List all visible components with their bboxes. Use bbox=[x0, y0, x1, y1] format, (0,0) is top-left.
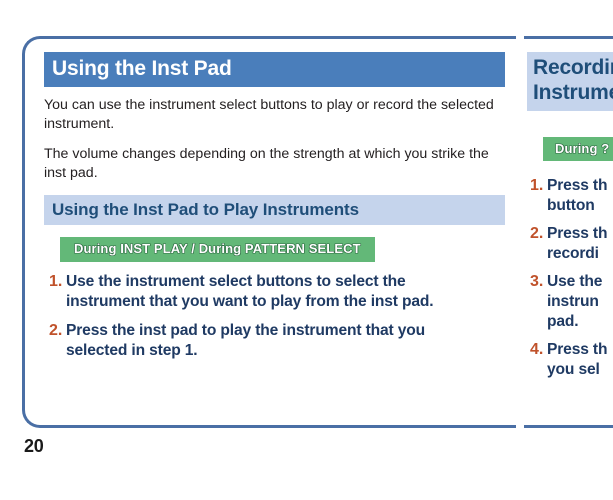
manual-page-spread: Using the Inst Pad You can use the instr… bbox=[0, 0, 613, 500]
right-page-content: Recording Instrumen During ? 1. Press th… bbox=[527, 52, 613, 388]
section-heading-line-2: Instrumen bbox=[533, 81, 613, 104]
step-text-line-1: Press th bbox=[547, 176, 607, 196]
left-page-content: Using the Inst Pad You can use the instr… bbox=[44, 52, 509, 370]
list-item: 3. Use the instrun pad. bbox=[527, 272, 613, 332]
list-item: 2. Press the inst pad to play the instru… bbox=[44, 321, 509, 361]
step-number: 1. bbox=[44, 272, 66, 292]
section-heading-recording-instrument: Recording Instrumen bbox=[527, 52, 613, 111]
step-text: Use the instrun pad. bbox=[547, 272, 602, 332]
body-paragraph-2: The volume changes depending on the stre… bbox=[44, 145, 496, 184]
page-number: 20 bbox=[24, 436, 44, 457]
step-text-line-1: Press th bbox=[547, 340, 607, 360]
step-text-line-2: button bbox=[547, 196, 607, 216]
list-item: 4. Press th you sel bbox=[527, 340, 613, 380]
step-text: Use the instrument select buttons to sel… bbox=[66, 272, 486, 312]
mode-banner-right: During ? bbox=[543, 137, 613, 162]
step-text-line-1: Use the bbox=[547, 272, 602, 292]
step-text: Press th recordi bbox=[547, 224, 607, 264]
list-item: 1. Press th button bbox=[527, 176, 613, 216]
section-heading-using-the-inst-pad: Using the Inst Pad bbox=[44, 52, 505, 87]
step-text-line-2: you sel bbox=[547, 360, 607, 380]
step-number: 1. bbox=[527, 176, 547, 196]
step-text-line-2: instrun bbox=[547, 292, 602, 312]
step-number: 4. bbox=[527, 340, 547, 360]
step-number: 3. bbox=[527, 272, 547, 292]
right-step-list: 1. Press th button 2. Press th recordi 3… bbox=[527, 176, 613, 380]
list-item: 2. Press th recordi bbox=[527, 224, 613, 264]
step-text-line-2: recordi bbox=[547, 244, 607, 264]
step-number: 2. bbox=[527, 224, 547, 244]
left-step-list: 1. Use the instrument select buttons to … bbox=[44, 272, 509, 361]
step-text: Press th you sel bbox=[547, 340, 607, 380]
step-text: Press the inst pad to play the instrumen… bbox=[66, 321, 486, 361]
mode-banner-inst-play-pattern-select: During INST PLAY / During PATTERN SELECT bbox=[60, 237, 375, 262]
step-text-line-3: pad. bbox=[547, 312, 602, 332]
body-paragraph-1: You can use the instrument select button… bbox=[44, 96, 496, 135]
subsection-heading-play-instruments: Using the Inst Pad to Play Instruments bbox=[44, 195, 505, 226]
step-text: Press th button bbox=[547, 176, 607, 216]
list-item: 1. Use the instrument select buttons to … bbox=[44, 272, 509, 312]
section-heading-line-1: Recording bbox=[533, 56, 613, 79]
step-text-line-1: Press th bbox=[547, 224, 607, 244]
step-number: 2. bbox=[44, 321, 66, 341]
